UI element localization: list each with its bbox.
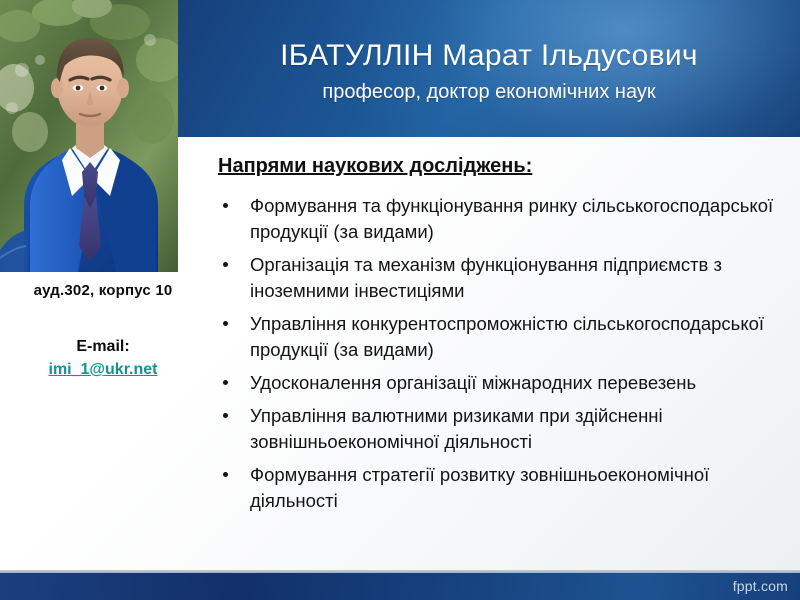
presenter-subtitle: професор, доктор економічних наук — [322, 79, 655, 105]
list-item-text: Формування стратегії розвитку зовнішньое… — [250, 462, 800, 514]
email-caption-label: E-mail: — [0, 338, 206, 356]
section-heading: Напрями наукових досліджень: — [218, 155, 532, 178]
bullet-dot-icon — [223, 321, 228, 326]
header-text-group: ІБАТУЛЛІН Марат Ільдусович професор, док… — [178, 0, 800, 137]
email-address-link[interactable]: imi_1@ukr.net — [0, 361, 206, 379]
watermark-label: fppt.com — [733, 578, 788, 594]
content-area: Напрями наукових досліджень: Формування … — [178, 137, 800, 573]
presenter-name-title: ІБАТУЛЛІН Марат Ільдусович — [280, 38, 698, 74]
list-item-text: Управління валютними ризиками при здійсн… — [250, 403, 800, 455]
bullet-dot-icon — [223, 203, 228, 208]
header-banner: ІБАТУЛЛІН Марат Ільдусович професор, док… — [178, 0, 800, 137]
list-item: Управління валютними ризиками при здійсн… — [206, 403, 800, 455]
list-item: Управління конкурентоспроможністю сільсь… — [206, 311, 800, 363]
bullet-dot-icon — [223, 413, 228, 418]
bullet-dot-icon — [223, 262, 228, 267]
research-directions-list: Формування та функціонування ринку сільс… — [206, 193, 800, 521]
slide-canvas: ауд.302, корпус 10 E-mail: imi_1@ukr.net… — [0, 0, 800, 600]
list-item-text: Організація та механізм функціонування п… — [250, 252, 800, 304]
office-location-label: ауд.302, корпус 10 — [0, 282, 206, 299]
list-item: Формування та функціонування ринку сільс… — [206, 193, 800, 245]
list-item: Формування стратегії розвитку зовнішньое… — [206, 462, 800, 514]
bullet-dot-icon — [223, 472, 228, 477]
footer-banner — [0, 573, 800, 600]
list-item: Удосконалення організації міжнародних пе… — [206, 370, 800, 396]
portrait-photo — [0, 0, 178, 272]
list-item-text: Удосконалення організації міжнародних пе… — [250, 370, 800, 396]
list-item-text: Формування та функціонування ринку сільс… — [250, 193, 800, 245]
bullet-dot-icon — [223, 380, 228, 385]
left-info-panel: ауд.302, корпус 10 E-mail: imi_1@ukr.net — [0, 0, 178, 573]
list-item: Організація та механізм функціонування п… — [206, 252, 800, 304]
list-item-text: Управління конкурентоспроможністю сільсь… — [250, 311, 800, 363]
